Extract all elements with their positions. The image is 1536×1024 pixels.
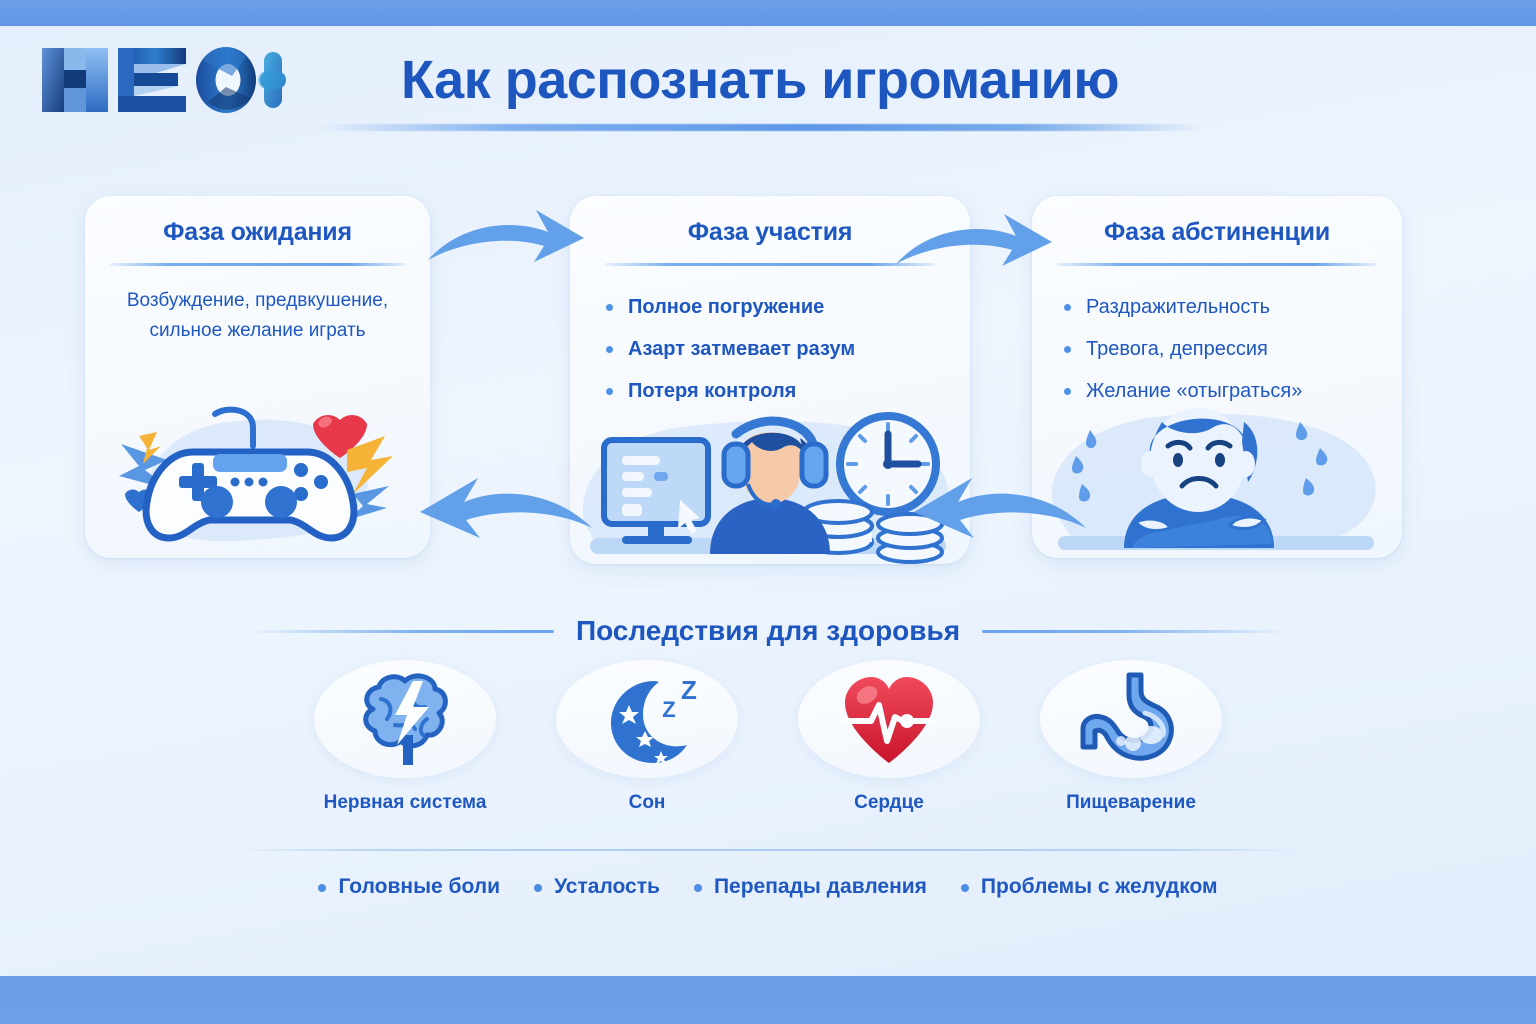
neo-plus-logo [36,40,286,120]
heart-ecg-icon [835,669,943,769]
card-divider [110,263,406,266]
svg-text:Z: Z [681,675,697,705]
card-divider [605,263,935,266]
footer-divider [238,849,1300,851]
icon-label: Нервная система [314,792,496,814]
title-underline [318,124,1202,131]
icon-disc: Z Z [556,660,738,778]
list-item: Усталость [534,875,660,899]
header-rule-right [982,630,1288,633]
list-item: Азарт затмевает разум [604,328,970,370]
stomach-icon [1077,669,1185,769]
phase-card-title: Фаза абстиненции [1032,196,1402,247]
moon-zzz-icon: Z Z [593,669,701,769]
arrow-phase3-to-phase2 [900,472,1090,555]
card-divider [1057,263,1377,266]
phase-bullet-list: Раздражительность Тревога, депрессия Жел… [1062,286,1402,412]
consequence-item-digestion[interactable]: Пищеварение [1040,660,1222,845]
list-item: Головные боли [318,875,500,899]
symptom-list: Головные боли Усталость Перепады давлени… [0,866,1536,908]
list-item: Раздражительность [1062,286,1402,328]
infographic-canvas: Как распознать игроманию Фаза ожидания В… [0,0,1536,1024]
arrow-phase2-to-phase3 [892,202,1056,285]
list-item: Проблемы с желудком [961,875,1218,899]
icon-label: Сон [556,792,738,814]
consequence-item-nervous-system[interactable]: Нервная система [314,660,496,845]
arrow-phase2-to-phase1 [406,472,596,555]
icon-disc [798,660,980,778]
top-accent-bar [0,0,1536,26]
icon-label: Пищеварение [1040,792,1222,814]
page-title: Как распознать игроманию [330,44,1190,116]
header-rule-left [248,630,554,633]
phase-bullet-list: Полное погружение Азарт затмевает разум … [604,286,970,412]
icon-label: Сердце [798,792,980,814]
consequences-header: Последствия для здоровья [0,608,1536,654]
list-item: Тревога, депрессия [1062,328,1402,370]
icon-disc [1040,660,1222,778]
bottom-accent-bar [0,976,1536,1024]
icon-disc [314,660,496,778]
svg-text:Z: Z [662,697,675,722]
list-item: Перепады давления [694,875,927,899]
phase-card-lead: Возбуждение, предвкушение, сильное желан… [103,286,412,346]
consequences-title: Последствия для здоровья [576,615,960,647]
consequence-item-sleep[interactable]: Z Z Сон [556,660,738,845]
brain-lightning-icon [351,669,459,769]
list-item: Полное погружение [604,286,970,328]
arrow-phase1-to-phase2 [424,198,588,281]
consequence-item-heart[interactable]: Сердце [798,660,980,845]
phase-card-title: Фаза ожидания [85,196,430,247]
gamepad-heart-lightning-illustration [85,398,430,558]
consequence-icon-row: Нервная система Z Z Сон [0,660,1536,845]
phase-card-anticipation[interactable]: Фаза ожидания Возбуждение, предвкушение,… [85,196,430,558]
